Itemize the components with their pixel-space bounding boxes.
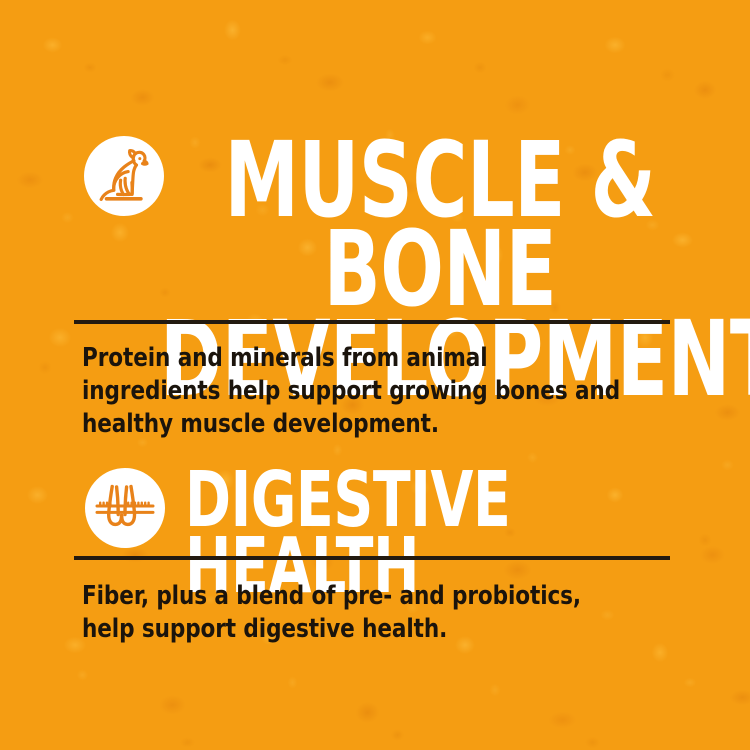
benefit-description: Fiber, plus a blend of pre- and probioti…	[82, 580, 627, 646]
benefit-divider	[74, 556, 670, 560]
intestinal-villi-icon	[85, 468, 165, 548]
benefits-content: MUSCLE & BONE DEVELOPMENT Protein and mi…	[0, 0, 750, 750]
benefit-divider	[74, 320, 670, 324]
benefit-description: Protein and minerals from animal ingredi…	[82, 342, 627, 441]
benefits-panel: MUSCLE & BONE DEVELOPMENT Protein and mi…	[0, 0, 750, 750]
sitting-dog-icon	[84, 136, 164, 216]
